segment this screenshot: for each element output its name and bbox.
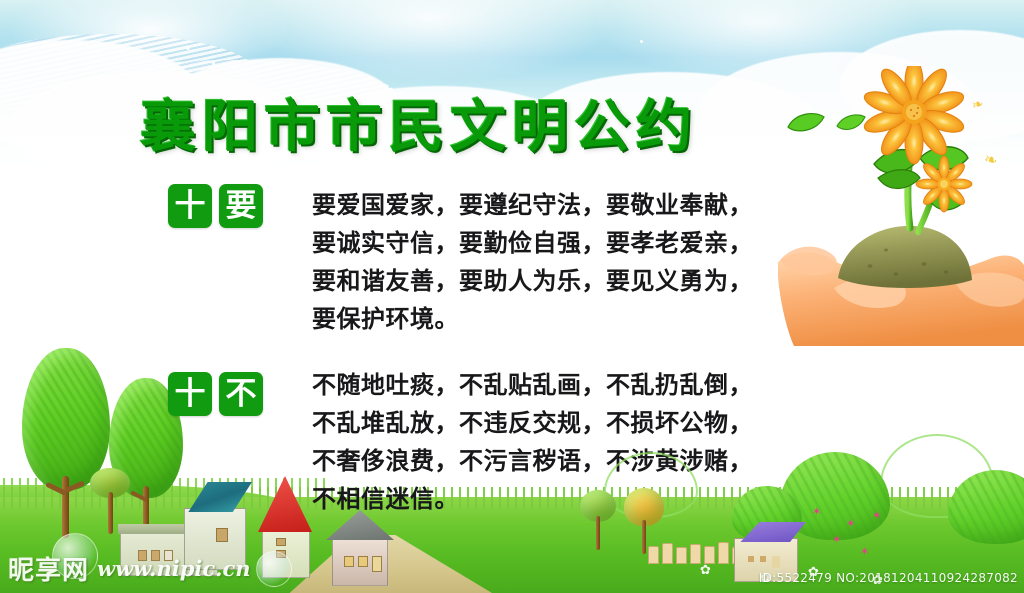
house-grey-roof xyxy=(322,506,402,586)
tree-trunk xyxy=(108,492,113,534)
window xyxy=(748,556,754,562)
sparkle xyxy=(152,52,155,55)
tree-trunk xyxy=(596,516,600,550)
badge-char-2: 要 xyxy=(219,184,263,228)
badge-char-1: 十 xyxy=(168,372,212,416)
sparkle xyxy=(196,72,199,75)
bush-flower: ✶ xyxy=(846,518,855,529)
bubble-decoration xyxy=(256,551,292,587)
badge-group-shi-bu: 十 不 xyxy=(168,372,263,416)
bush-flower: ✶ xyxy=(872,510,881,521)
door xyxy=(372,556,382,572)
tree-tiny xyxy=(580,490,626,552)
tree-tiny xyxy=(88,468,138,534)
hand-holding-flower-illustration xyxy=(778,66,1024,346)
sparkle xyxy=(212,62,215,65)
window xyxy=(344,556,354,567)
badge-char-1: 十 xyxy=(168,184,212,228)
watermark: 昵享网 www.nipic.cn xyxy=(8,550,251,587)
window xyxy=(216,528,228,542)
clause-text-shi-yao: 要爱国爱家，要遵纪守法，要敬业奉献， 要诚实守信，要勤俭自强，要孝老爱亲， 要和… xyxy=(312,186,792,338)
daisy-flower: ✿ xyxy=(700,564,711,577)
tree-trunk xyxy=(62,476,69,538)
clause-text-shi-bu: 不随地吐痰，不乱贴乱画，不乱扔乱倒， 不乱堆乱放，不违反交规，不损坏公物， 不奢… xyxy=(312,366,792,518)
badge-group-shi-yao: 十 要 xyxy=(168,184,263,228)
flower-small xyxy=(916,156,972,212)
sparkle xyxy=(640,40,643,43)
bush-flower: ✶ xyxy=(832,534,841,545)
window xyxy=(358,556,368,567)
tree-trunk xyxy=(642,520,646,554)
window xyxy=(760,556,766,562)
house-roof xyxy=(258,476,312,532)
page-title: 襄阳市市民文明公约 xyxy=(140,82,780,163)
image-id-tag: ID:5522479 NO:20181204110924287082 xyxy=(759,571,1018,585)
watermark-site-name: 昵享网 xyxy=(8,550,89,587)
house-roof xyxy=(326,510,394,540)
door xyxy=(772,556,780,568)
bush-flower: ✶ xyxy=(860,546,869,557)
poster-canvas: 襄阳市市民文明公约 ❧ ❧ xyxy=(0,0,1024,593)
watermark-url: www.nipic.cn xyxy=(97,556,251,581)
badge-char-2: 不 xyxy=(219,372,263,416)
window xyxy=(276,538,286,546)
bush-flower: ✶ xyxy=(812,506,821,517)
sparkle xyxy=(186,46,190,50)
